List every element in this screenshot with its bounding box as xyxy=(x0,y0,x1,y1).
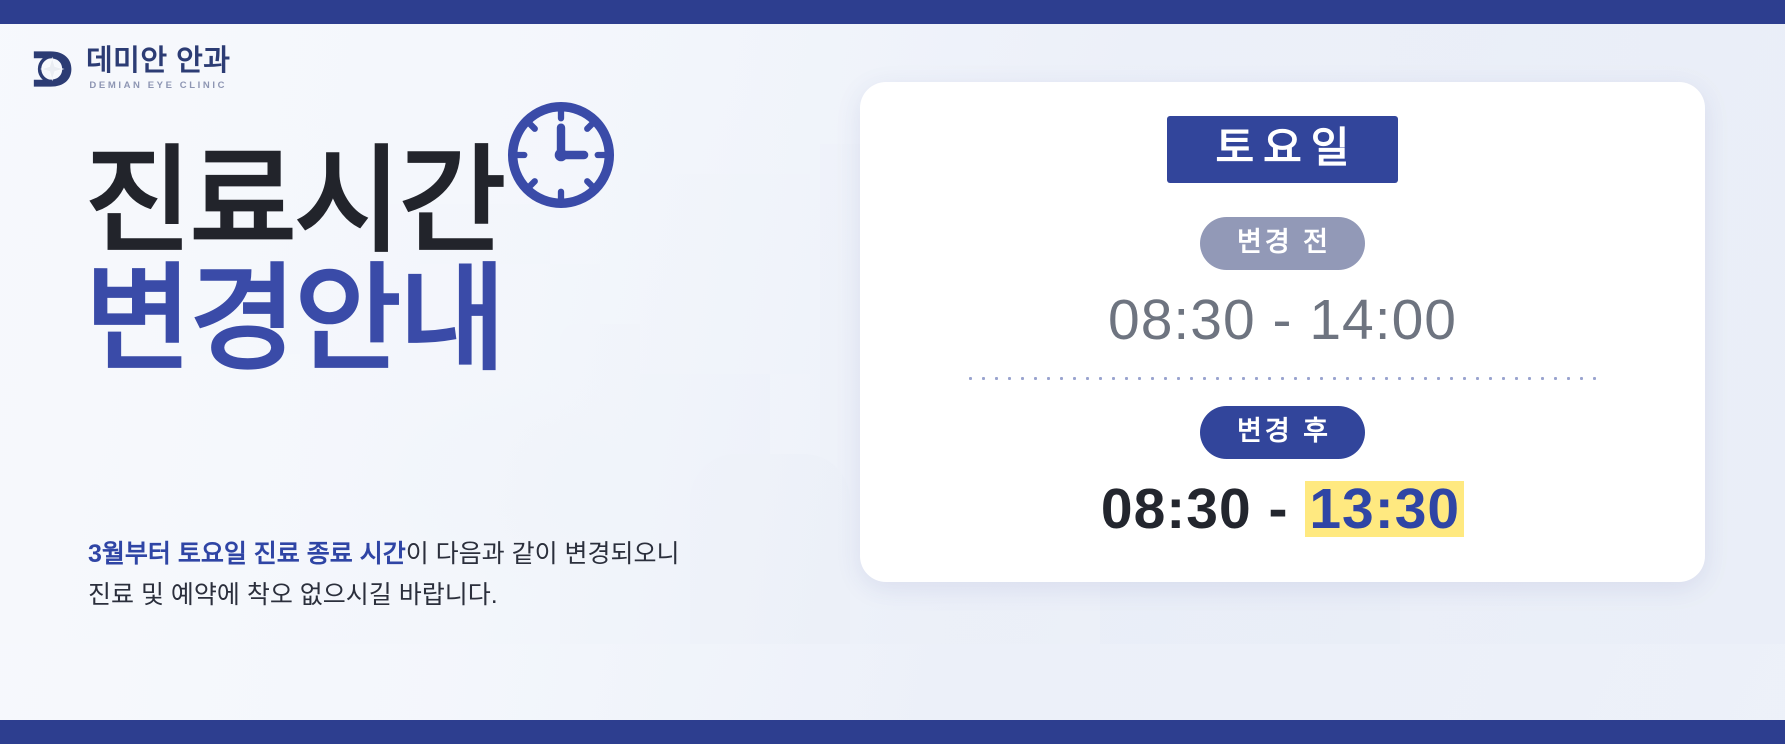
headline-line-2: 변경안내 xyxy=(85,266,504,374)
headline: 진료시간 변경안내 xyxy=(85,148,504,374)
headline-line-1: 진료시간 xyxy=(85,148,504,256)
subtitle: 3월부터 토요일 진료 종료 시간이 다음과 같이 변경되오니 진료 및 예약에… xyxy=(88,534,680,615)
after-time-prefix: 08:30 - xyxy=(1101,477,1305,541)
after-change-pill: 변경 후 xyxy=(1200,406,1365,459)
day-badge: 토요일 xyxy=(1167,116,1399,183)
subtitle-line-1-rest: 이 다음과 같이 변경되오니 xyxy=(406,540,680,568)
card-divider xyxy=(964,377,1602,380)
clinic-hours-banner: 데미안 안과 DEMIAN EYE CLINIC 진료시간 변경안내 3월부터 xyxy=(0,0,1785,744)
demian-d-sparkle-logo-icon xyxy=(30,46,76,92)
after-time-highlight: 13:30 xyxy=(1305,477,1464,541)
clock-icon xyxy=(498,92,624,218)
top-bar xyxy=(0,0,1785,24)
subtitle-line-2: 진료 및 예약에 착오 없으시길 바랍니다. xyxy=(88,575,680,616)
clinic-logo: 데미안 안과 DEMIAN EYE CLINIC xyxy=(30,46,230,92)
subtitle-emphasis: 3월부터 토요일 진료 종료 시간 xyxy=(88,540,406,568)
schedule-card: 토요일 변경 전 08:30 - 14:00 변경 후 08:30 - 13:3… xyxy=(860,82,1705,582)
subtitle-line-1: 3월부터 토요일 진료 종료 시간이 다음과 같이 변경되오니 xyxy=(88,534,680,575)
bottom-bar xyxy=(0,720,1785,744)
before-change-time: 08:30 - 14:00 xyxy=(1108,292,1457,349)
after-change-time: 08:30 - 13:30 xyxy=(1101,481,1464,538)
before-change-pill: 변경 전 xyxy=(1200,217,1365,270)
logo-name-ko: 데미안 안과 xyxy=(86,47,230,76)
logo-name-en: DEMIAN EYE CLINIC xyxy=(86,81,230,91)
